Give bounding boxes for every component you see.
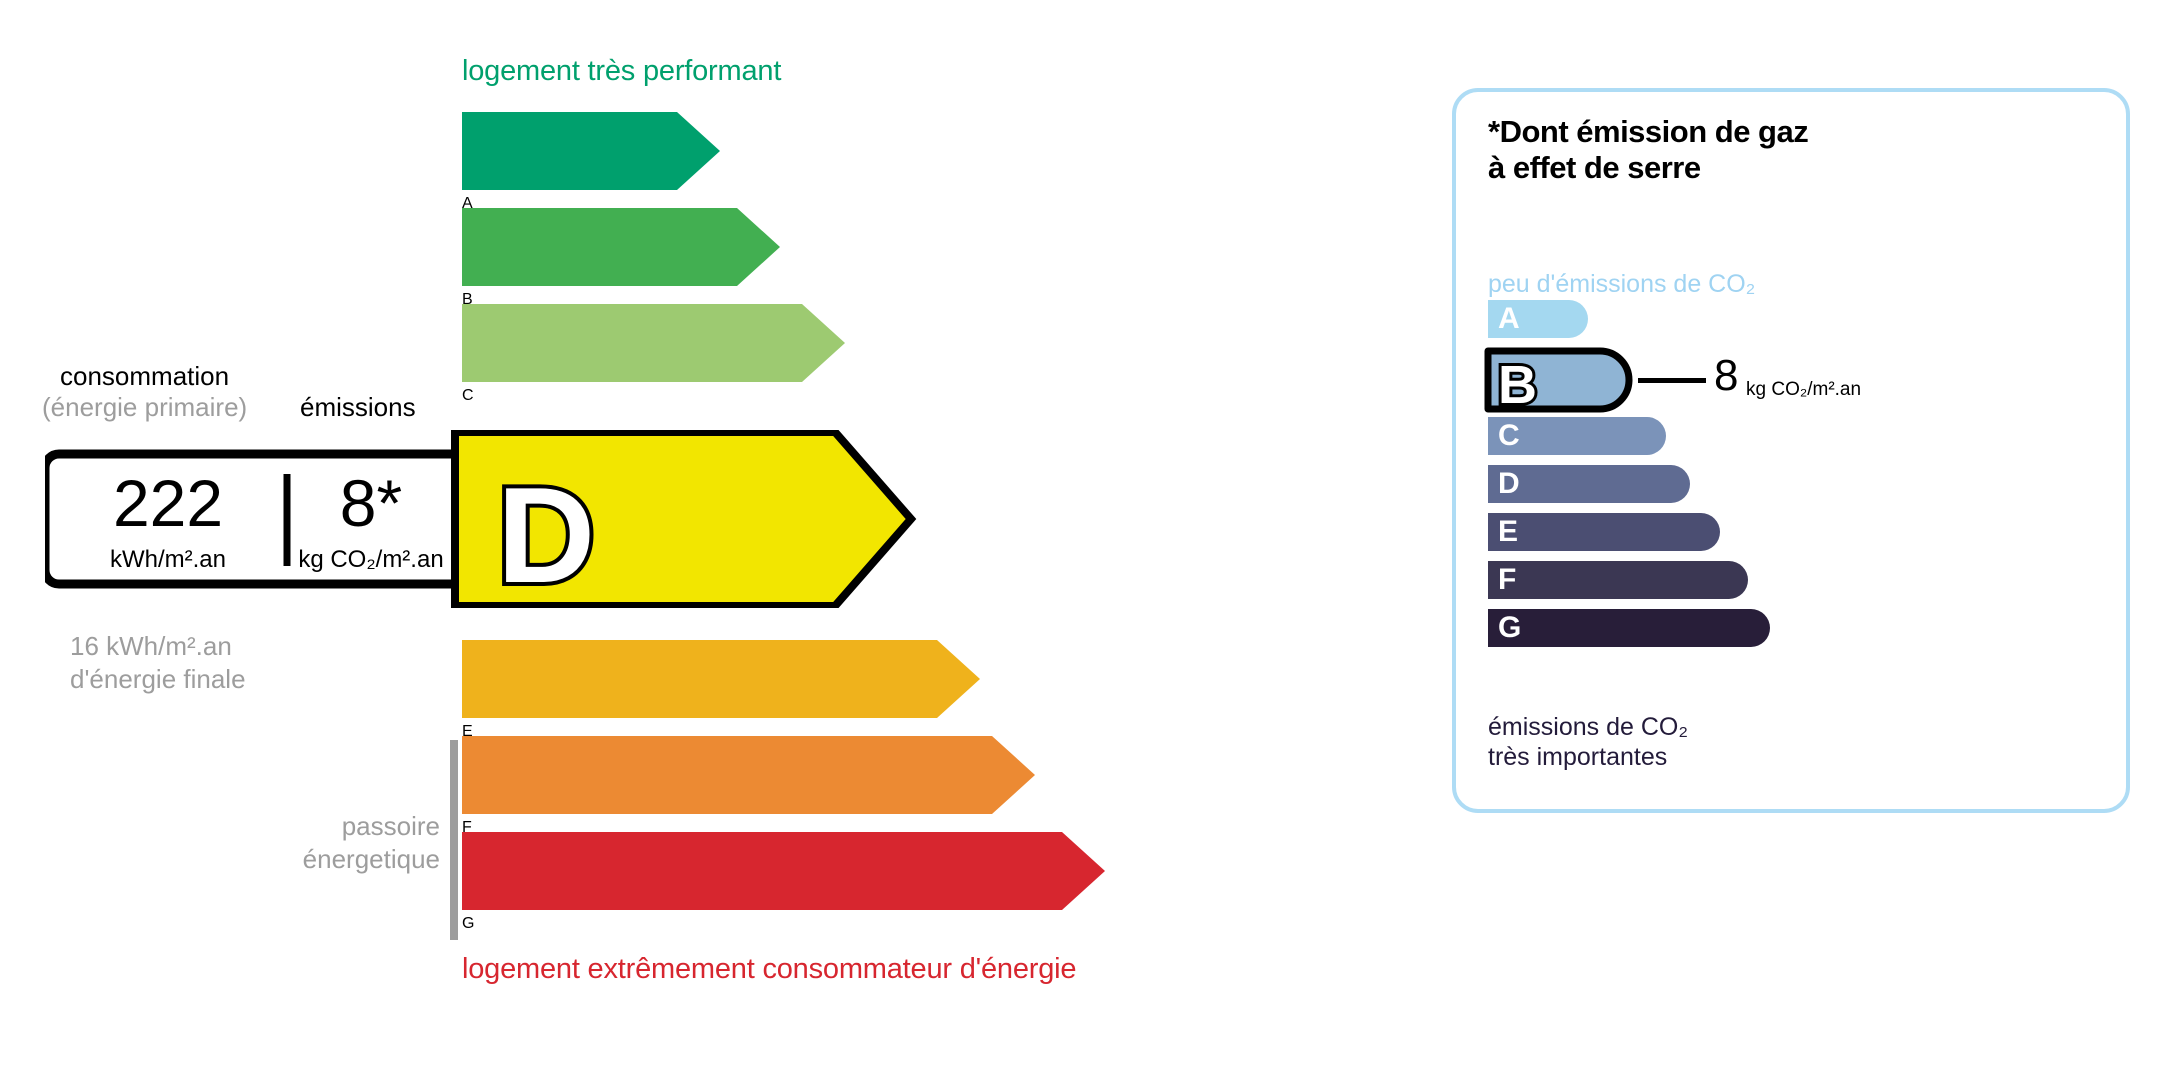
co2-bottom-caption: émissions de CO₂ très importantes — [1488, 712, 1688, 772]
passoire-marker-bar — [450, 740, 458, 940]
passoire-label-line1: passoire — [300, 810, 440, 843]
energy-bar-g-letter: G — [462, 915, 474, 932]
co2-panel: *Dont émission de gaz à effet de serre p… — [1452, 88, 2130, 813]
co2-panel-title: *Dont émission de gaz à effet de serre — [1488, 114, 1808, 185]
co2-value-leader-line — [1638, 378, 1706, 383]
co2-bar-d: D — [1488, 465, 1690, 503]
co2-current-letter: B — [1498, 355, 1537, 413]
co2-bar-g: G — [1488, 609, 1770, 647]
dpe-energy-label: logement très performant A B C — [0, 0, 2170, 1079]
co2-title-line2: à effet de serre — [1488, 150, 1808, 186]
co2-bottom-caption-line1: émissions de CO₂ — [1488, 712, 1688, 742]
energy-current-row: D 222 kWh/m².an 8* kg CO₂/m².an — [45, 430, 955, 605]
consumption-label-primary: consommation — [60, 362, 229, 391]
energy-top-caption: logement très performant — [462, 55, 781, 88]
energy-bar-c-letter: C — [462, 387, 474, 404]
energy-bar-f: F — [462, 736, 1037, 814]
co2-bar-a: A — [1488, 300, 1588, 338]
consumption-value: 222 — [57, 470, 279, 536]
final-energy-line1: 16 kWh/m².an — [70, 630, 246, 663]
co2-value-unit: kg CO₂/m².an — [1746, 380, 1861, 399]
energy-scale-panel: logement très performant A B C — [0, 0, 1400, 1079]
co2-bar-f-letter: F — [1498, 565, 1516, 595]
energy-bar-b: B — [462, 208, 782, 286]
consumption-unit: kWh/m².an — [57, 548, 279, 572]
co2-bar-e: E — [1488, 513, 1720, 551]
co2-bottom-caption-line2: très importantes — [1488, 742, 1688, 772]
energy-bar-a: A — [462, 112, 722, 190]
co2-value: 8 — [1714, 354, 1738, 398]
energy-current-letter: D — [497, 459, 595, 608]
co2-bar-e-letter: E — [1498, 517, 1518, 547]
co2-bar-c: C — [1488, 417, 1666, 455]
passoire-label: passoire énergetique — [300, 810, 440, 875]
energy-bottom-caption: logement extrêmement consommateur d'éner… — [462, 953, 1076, 986]
final-energy-line2: d'énergie finale — [70, 663, 246, 696]
energy-bar-e: E — [462, 640, 982, 718]
co2-bar-d-letter: D — [1498, 469, 1520, 499]
co2-bar-a-letter: A — [1498, 304, 1520, 334]
energy-bar-g: G — [462, 832, 1107, 910]
co2-title-line1: *Dont émission de gaz — [1488, 114, 1808, 150]
co2-bar-c-letter: C — [1498, 421, 1520, 451]
co2-bar-f: F — [1488, 561, 1748, 599]
emissions-label: émissions — [300, 393, 416, 422]
co2-bar-g-letter: G — [1498, 613, 1521, 643]
final-energy-note: 16 kWh/m².an d'énergie finale — [70, 630, 246, 695]
passoire-label-line2: énergetique — [300, 843, 440, 876]
co2-top-caption: peu d'émissions de CO₂ — [1488, 270, 1755, 299]
emissions-unit: kg CO₂/m².an — [285, 548, 457, 572]
consumption-label-secondary: (énergie primaire) — [42, 393, 247, 422]
energy-bar-c: C — [462, 304, 847, 382]
emissions-value: 8* — [291, 470, 451, 536]
co2-current-row: B — [1484, 347, 1634, 411]
